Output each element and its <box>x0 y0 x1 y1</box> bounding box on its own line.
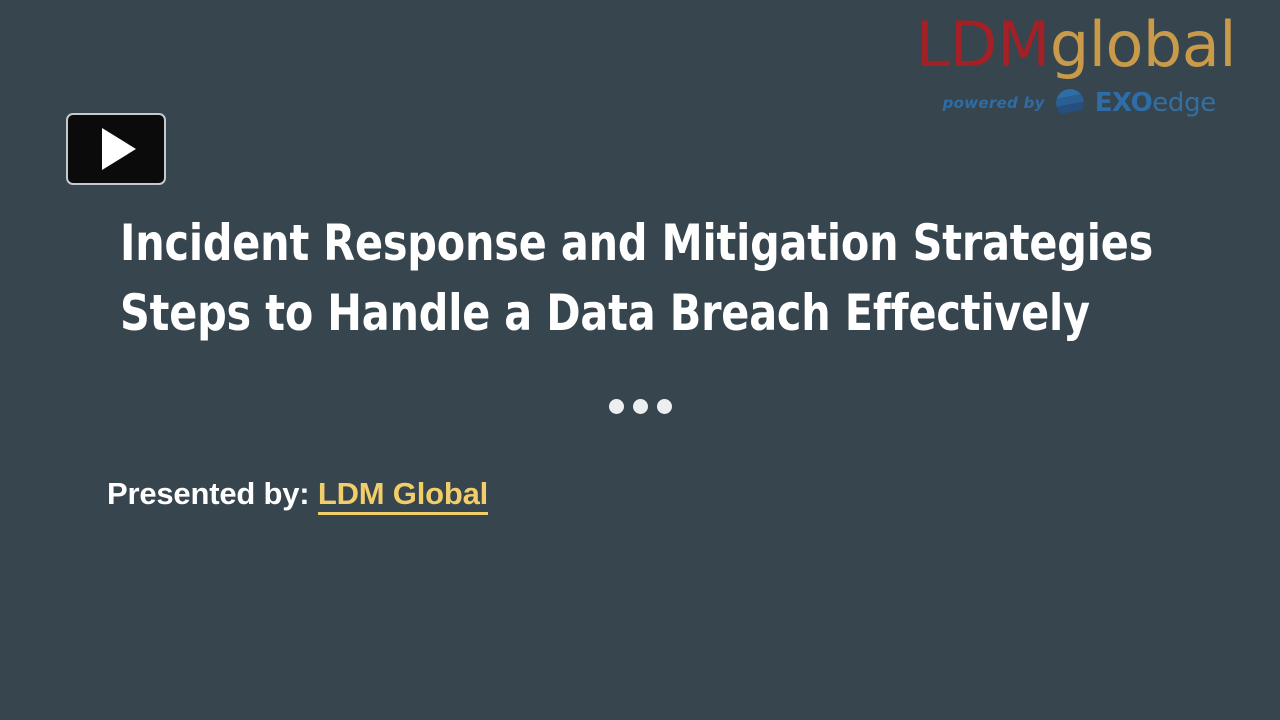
title-line-1: Incident Response and Mitigation Strateg… <box>120 208 1040 278</box>
slide-canvas: LDMglobal powered by EXOedge I <box>0 0 1280 720</box>
play-button[interactable] <box>66 113 166 185</box>
separator-dot <box>657 399 672 414</box>
powered-by-block: powered by EXOedge <box>916 88 1236 118</box>
brand-wordmark-primary: LDM <box>916 8 1050 81</box>
brand-wordmark-secondary: global <box>1050 8 1236 81</box>
page-title: Incident Response and Mitigation Strateg… <box>120 208 1120 348</box>
presenter-line: Presented by: LDM Global <box>107 476 488 512</box>
presenter-link[interactable]: LDM Global <box>318 476 488 515</box>
partner-wordmark-light: edge <box>1152 88 1216 118</box>
play-triangle-icon <box>102 128 136 170</box>
exoedge-globe-icon <box>1053 88 1087 118</box>
partner-wordmark-bold: EXO <box>1095 88 1152 118</box>
dot-separator <box>0 399 1280 414</box>
presenter-label: Presented by: <box>107 476 309 511</box>
powered-by-label: powered by <box>943 96 1045 111</box>
brand-wordmark: LDMglobal <box>916 14 1236 76</box>
partner-wordmark: EXOedge <box>1095 90 1216 116</box>
brand-logo: LDMglobal powered by EXOedge <box>916 14 1236 118</box>
separator-dot <box>609 399 624 414</box>
title-line-2: Steps to Handle a Data Breach Effectivel… <box>120 278 1040 348</box>
separator-dot <box>633 399 648 414</box>
